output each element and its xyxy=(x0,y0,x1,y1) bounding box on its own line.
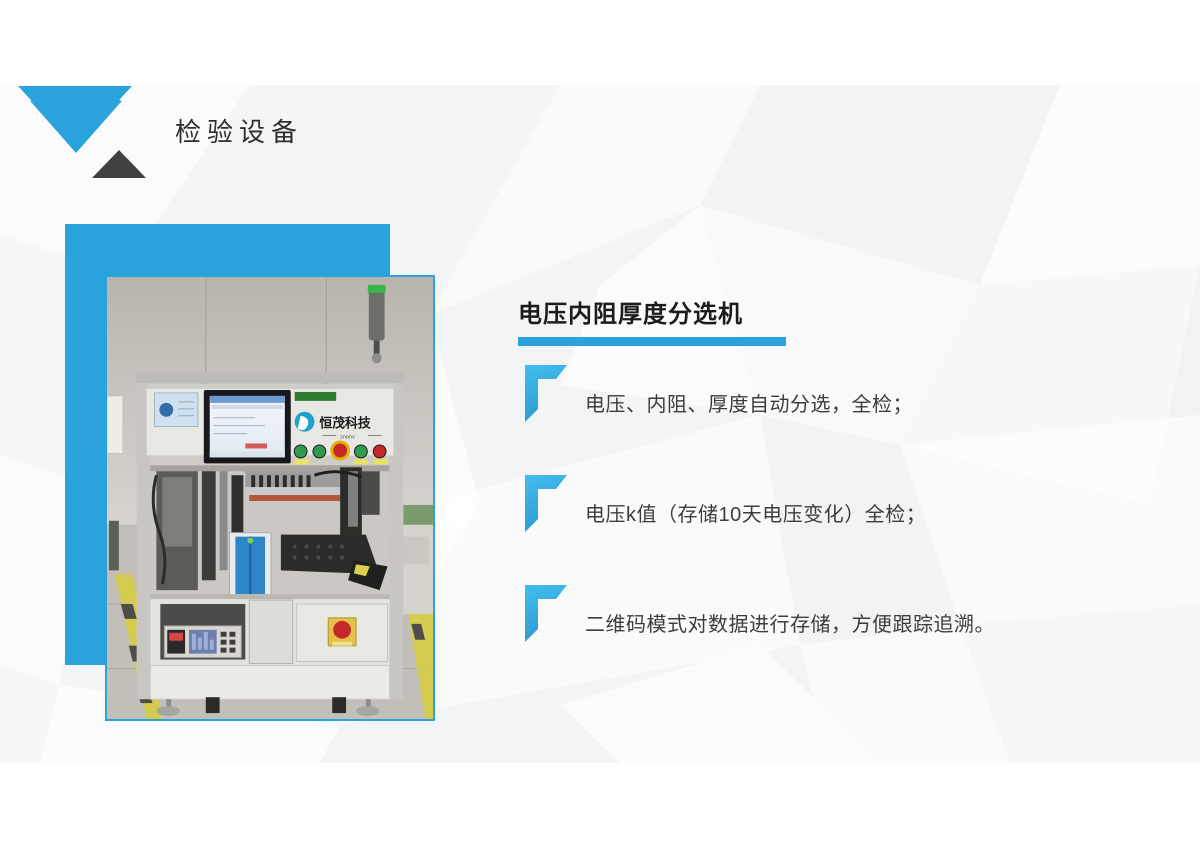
equipment-name: 电压内阻厚度分选机 xyxy=(518,294,743,329)
list-item: 二维码模式对数据进行存储，方便跟踪追溯。 xyxy=(500,585,1180,695)
title-underline xyxy=(518,337,786,346)
flag-bracket-icon xyxy=(525,585,567,642)
equipment-visual: 恒茂科技 snonv xyxy=(0,0,520,848)
slide-root: 检验设备 xyxy=(0,0,1200,848)
list-item-label: 电压、内阻、厚度自动分选，全检； xyxy=(585,391,913,419)
feature-list: 电压、内阻、厚度自动分选，全检； 电压k值（存储10天电压变化）全检； xyxy=(500,365,1180,695)
equipment-photo: 恒茂科技 snonv xyxy=(105,275,435,721)
list-item-label: 电压k值（存储10天电压变化）全检； xyxy=(585,501,926,529)
list-item: 电压、内阻、厚度自动分选，全检； xyxy=(500,365,1180,475)
list-item-label: 二维码模式对数据进行存储，方便跟踪追溯。 xyxy=(585,611,995,639)
svg-text:恒茂科技: 恒茂科技 xyxy=(319,416,370,432)
flag-bracket-icon xyxy=(525,365,567,422)
svg-text:snonv: snonv xyxy=(340,435,355,441)
list-item: 电压k值（存储10天电压变化）全检； xyxy=(500,475,1180,585)
equipment-photo-graphic: 恒茂科技 snonv xyxy=(107,277,433,719)
flag-bracket-icon xyxy=(525,475,567,532)
